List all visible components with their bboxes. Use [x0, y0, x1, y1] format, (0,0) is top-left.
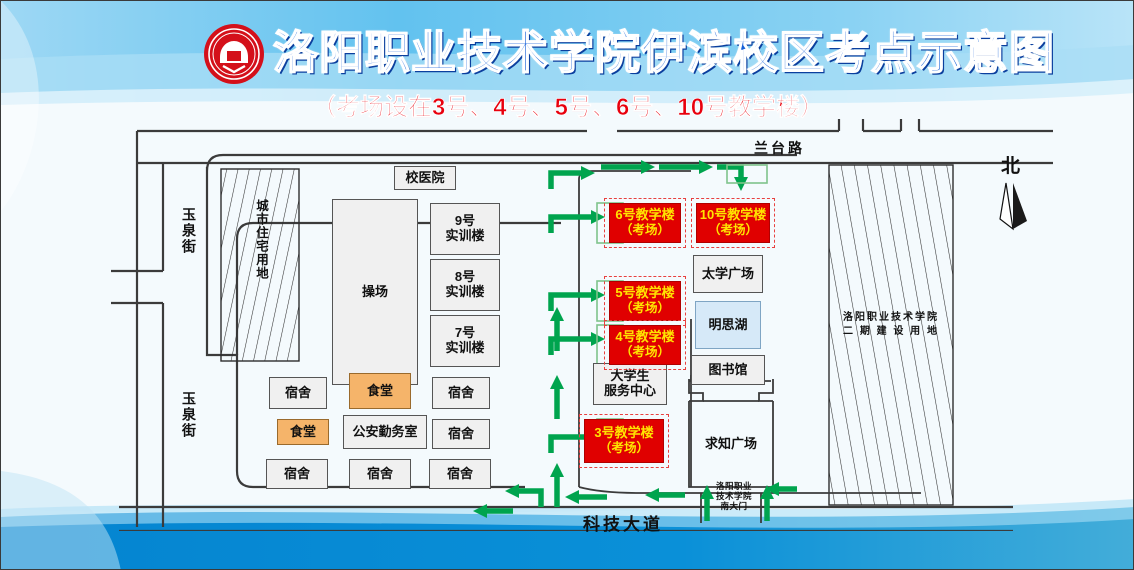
exam-building-6-line1: 6号教学楼: [615, 207, 674, 223]
building-playground-label: 操场: [362, 285, 388, 300]
building-training-9-line1: 9号: [455, 214, 475, 229]
building-training-7-line2: 实训楼: [445, 341, 484, 356]
parcel-label-urban-residential: 城市住宅用地: [252, 199, 271, 280]
building-dorm-3[interactable]: 宿舍: [432, 419, 490, 449]
building-hospital-label: 校医院: [405, 171, 444, 186]
exam-building-10-line1: 10号教学楼: [700, 207, 766, 223]
road-label-yuquan-north: 玉泉街: [179, 207, 199, 255]
exam-building-4[interactable]: 4号教学楼 （考场）: [604, 320, 686, 370]
road-label-keji: 科技大道: [583, 510, 663, 535]
exam-building-6[interactable]: 6号教学楼 （考场）: [604, 198, 686, 248]
campus-map: 玉泉街 玉泉街 兰台路 科技大道 城市住宅用地 洛阳职业技术学院 二 期 建 设…: [1, 119, 1134, 531]
poster-root: 洛阳职业技术学院伊滨校区考点示意图 （考场设在3号、4号、5号、6号、10号教学…: [0, 0, 1134, 570]
south-gate-line1: 洛阳职业: [709, 481, 759, 491]
building-hospital[interactable]: 校医院: [394, 166, 456, 190]
building-dorm-1-label: 宿舍: [285, 386, 311, 401]
building-qiuzhi-square-label: 求知广场: [705, 437, 757, 452]
building-training-7-line1: 7号: [455, 326, 475, 341]
page-title: 洛阳职业技术学院伊滨校区考点示意图: [273, 23, 953, 83]
road-label-lantai: 兰台路: [754, 138, 805, 158]
building-police-office-label: 公安勤务室: [352, 425, 417, 440]
building-police-office[interactable]: 公安勤务室: [343, 415, 427, 449]
building-training-8-line1: 8号: [455, 270, 475, 285]
building-dorm-2-label: 宿舍: [448, 386, 474, 401]
exam-building-10-line2: （考场）: [708, 223, 758, 239]
building-dorm-3-label: 宿舍: [448, 427, 474, 442]
building-taixue-square-label: 太学广场: [702, 267, 754, 282]
south-gate-line3: 南大门: [709, 501, 759, 511]
exam-building-5-line1: 5号教学楼: [615, 285, 674, 301]
exam-building-3[interactable]: 3号教学楼 （考场）: [579, 414, 669, 468]
building-taixue-square[interactable]: 太学广场: [693, 255, 763, 293]
building-canteen-1[interactable]: 食堂: [349, 373, 411, 409]
building-training-8[interactable]: 8号 实训楼: [430, 259, 500, 311]
poster-header: 洛阳职业技术学院伊滨校区考点示意图 （考场设在3号、4号、5号、6号、10号教学…: [1, 1, 1134, 119]
building-training-7[interactable]: 7号 实训楼: [430, 315, 500, 367]
building-qiuzhi-square[interactable]: 求知广场: [691, 403, 771, 485]
building-dorm-4-label: 宿舍: [284, 467, 310, 482]
page-subtitle: （考场设在3号、4号、5号、6号、10号教学楼）: [1, 87, 1134, 122]
exam-building-4-line1: 4号教学楼: [615, 329, 674, 345]
building-canteen-1-label: 食堂: [367, 384, 393, 399]
exam-building-10[interactable]: 10号教学楼 （考场）: [691, 198, 775, 248]
exam-building-4-line2: （考场）: [620, 345, 670, 361]
building-dorm-5[interactable]: 宿舍: [349, 459, 411, 489]
exam-building-3-line1: 3号教学楼: [594, 425, 653, 441]
exam-building-5[interactable]: 5号教学楼 （考场）: [604, 276, 686, 326]
building-dorm-6[interactable]: 宿舍: [429, 459, 491, 489]
building-training-9[interactable]: 9号 实训楼: [430, 203, 500, 255]
parcel-label-phase-two-line2: 二 期 建 设 用 地: [823, 325, 959, 339]
building-library[interactable]: 图书馆: [691, 355, 765, 385]
road-label-yuquan-south: 玉泉街: [179, 391, 199, 439]
south-gate-label[interactable]: 洛阳职业 技术学院 南大门: [709, 481, 759, 511]
parcel-label-phase-two: 洛阳职业技术学院 二 期 建 设 用 地: [823, 311, 959, 338]
south-gate-line2: 技术学院: [709, 491, 759, 501]
building-dorm-5-label: 宿舍: [367, 467, 393, 482]
map-linework: [1, 119, 1134, 531]
exam-building-6-line2: （考场）: [620, 223, 670, 239]
building-training-9-line2: 实训楼: [445, 229, 484, 244]
building-library-label: 图书馆: [708, 363, 747, 378]
building-training-8-line2: 实训楼: [445, 285, 484, 300]
building-dorm-4[interactable]: 宿舍: [266, 459, 328, 489]
building-canteen-2-label: 食堂: [290, 425, 316, 440]
building-dorm-2[interactable]: 宿舍: [432, 377, 490, 409]
building-student-center-line1: 大学生: [610, 369, 649, 384]
building-canteen-2[interactable]: 食堂: [277, 419, 329, 445]
building-playground[interactable]: 操场: [332, 199, 418, 385]
luoyang-vocational-college-emblem: [203, 23, 265, 85]
building-mingsi-lake-label: 明思湖: [708, 318, 747, 333]
exam-building-3-line2: （考场）: [599, 441, 649, 457]
north-arrow-icon: [1000, 183, 1027, 229]
building-mingsi-lake[interactable]: 明思湖: [695, 301, 761, 349]
parcel-label-phase-two-line1: 洛阳职业技术学院: [823, 311, 959, 325]
building-student-center-line2: 服务中心: [604, 384, 656, 399]
building-dorm-1[interactable]: 宿舍: [269, 377, 327, 409]
exam-building-5-line2: （考场）: [620, 301, 670, 317]
building-dorm-6-label: 宿舍: [447, 467, 473, 482]
compass-label: 北: [1001, 151, 1020, 178]
